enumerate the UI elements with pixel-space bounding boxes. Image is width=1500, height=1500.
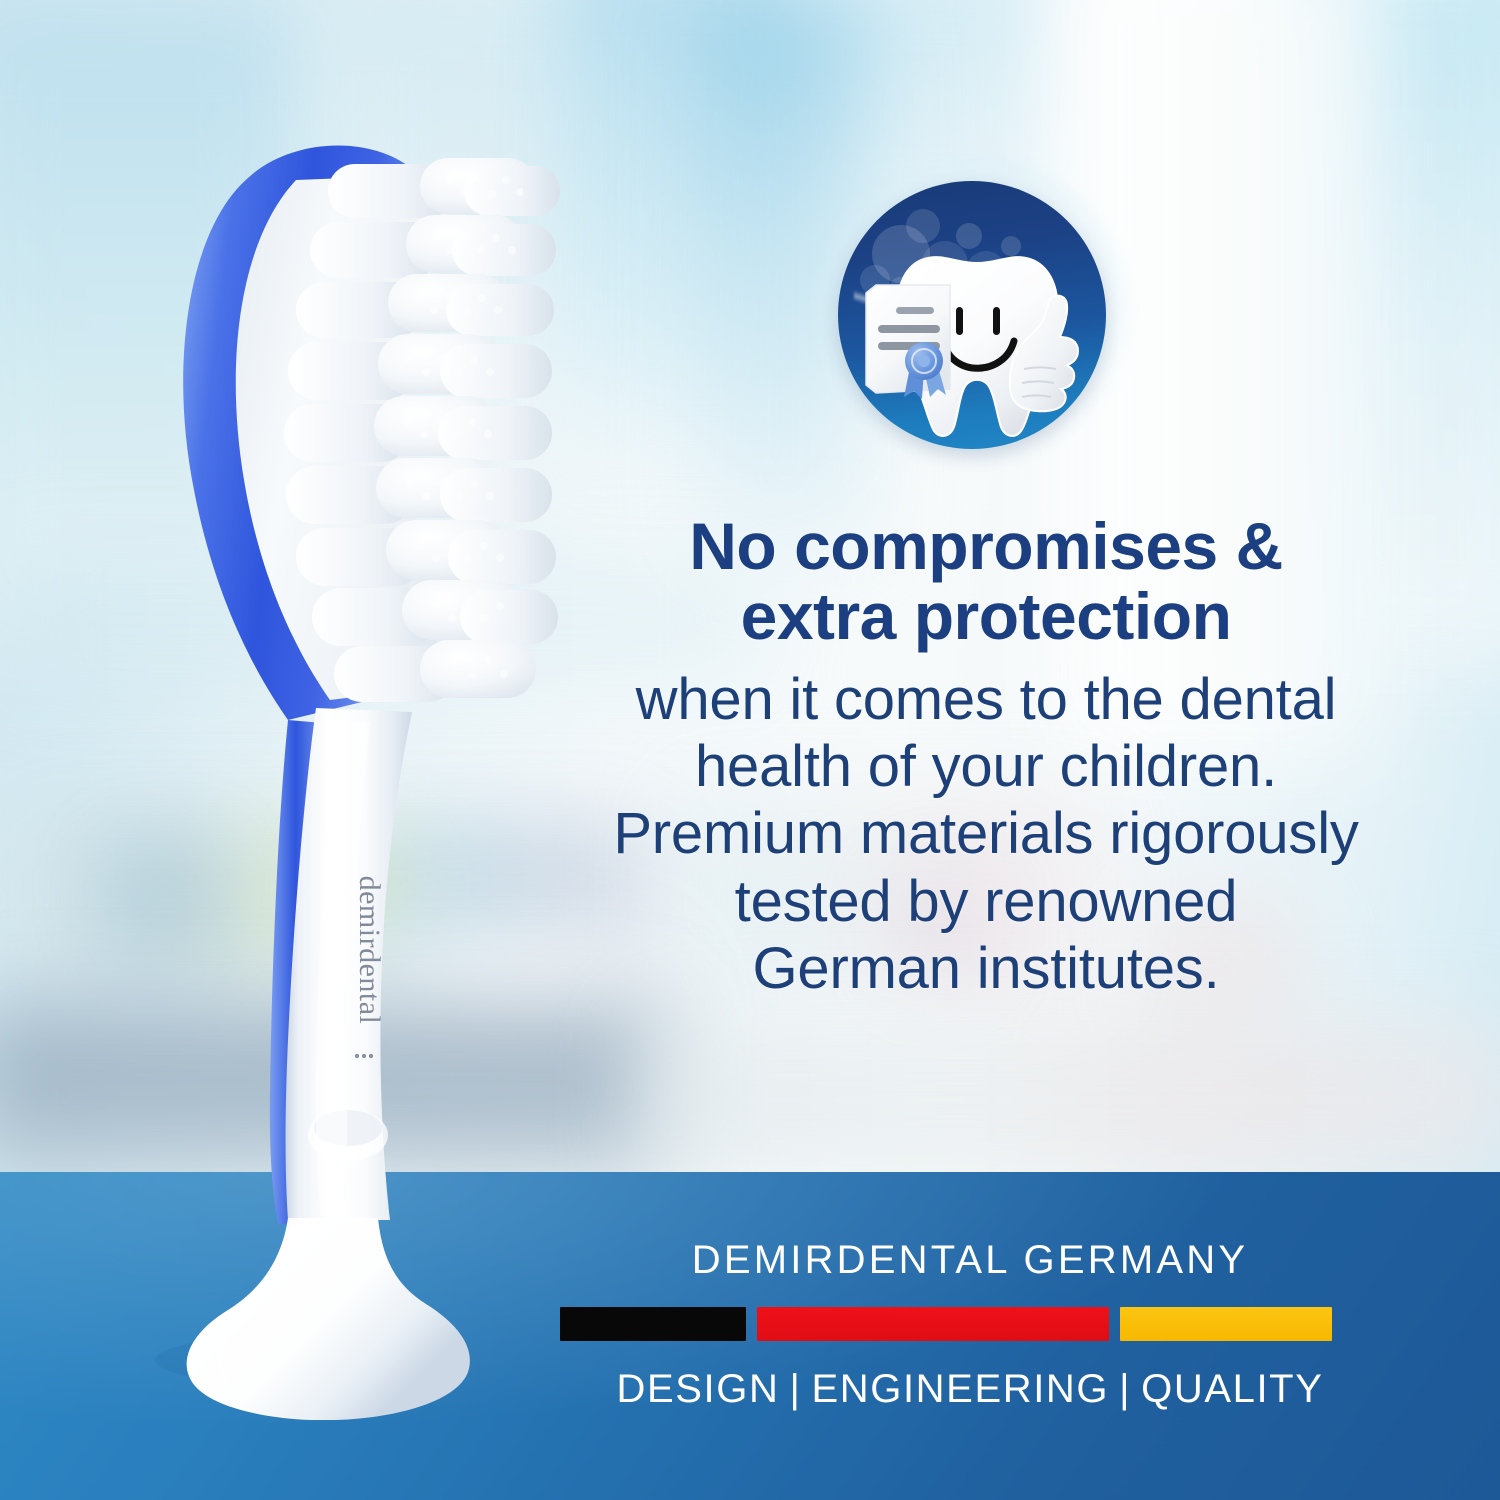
- background-blur-shape: [640, 1020, 1500, 1180]
- body-line-5: German institutes.: [486, 935, 1486, 1002]
- body-copy: when it comes to the dental health of yo…: [486, 666, 1486, 1002]
- product-marketing-image: demirdental: [0, 0, 1500, 1500]
- flag-bar-black: [560, 1307, 746, 1341]
- tagline-design: DESIGN: [617, 1367, 780, 1411]
- certificate-icon: [866, 285, 950, 399]
- headline-line-2: extra protection: [486, 582, 1486, 652]
- brand-title: DEMIRDENTAL GERMANY: [560, 1240, 1380, 1280]
- tagline-engineering: ENGINEERING: [811, 1367, 1109, 1411]
- flag-bar-red: [757, 1307, 1109, 1341]
- tagline-separator: |: [1109, 1367, 1141, 1411]
- tooth-mascot-icon: [838, 181, 1106, 481]
- certification-badge: [838, 181, 1106, 481]
- brand-block: DEMIRDENTAL GERMANY DESIGN|ENGINEERING|Q…: [560, 1240, 1380, 1409]
- headline: No compromises & extra protection: [486, 512, 1486, 652]
- body-line-1: when it comes to the dental: [486, 666, 1486, 733]
- toothbrush-base: [187, 1218, 470, 1420]
- body-line-3: Premium materials rigorously: [486, 800, 1486, 867]
- headline-line-1: No compromises &: [486, 512, 1486, 582]
- body-line-4: tested by renowned: [486, 868, 1486, 935]
- marketing-copy: No compromises & extra protection when i…: [486, 512, 1486, 1002]
- german-flag-bars: [560, 1307, 1380, 1341]
- tagline-quality: QUALITY: [1141, 1367, 1323, 1411]
- flag-bar-gold: [1120, 1307, 1332, 1341]
- body-line-2: health of your children.: [486, 733, 1486, 800]
- tagline-separator: |: [779, 1367, 811, 1411]
- handle-brand-text: demirdental: [353, 876, 386, 1025]
- brand-tagline: DESIGN|ENGINEERING|QUALITY: [560, 1369, 1380, 1409]
